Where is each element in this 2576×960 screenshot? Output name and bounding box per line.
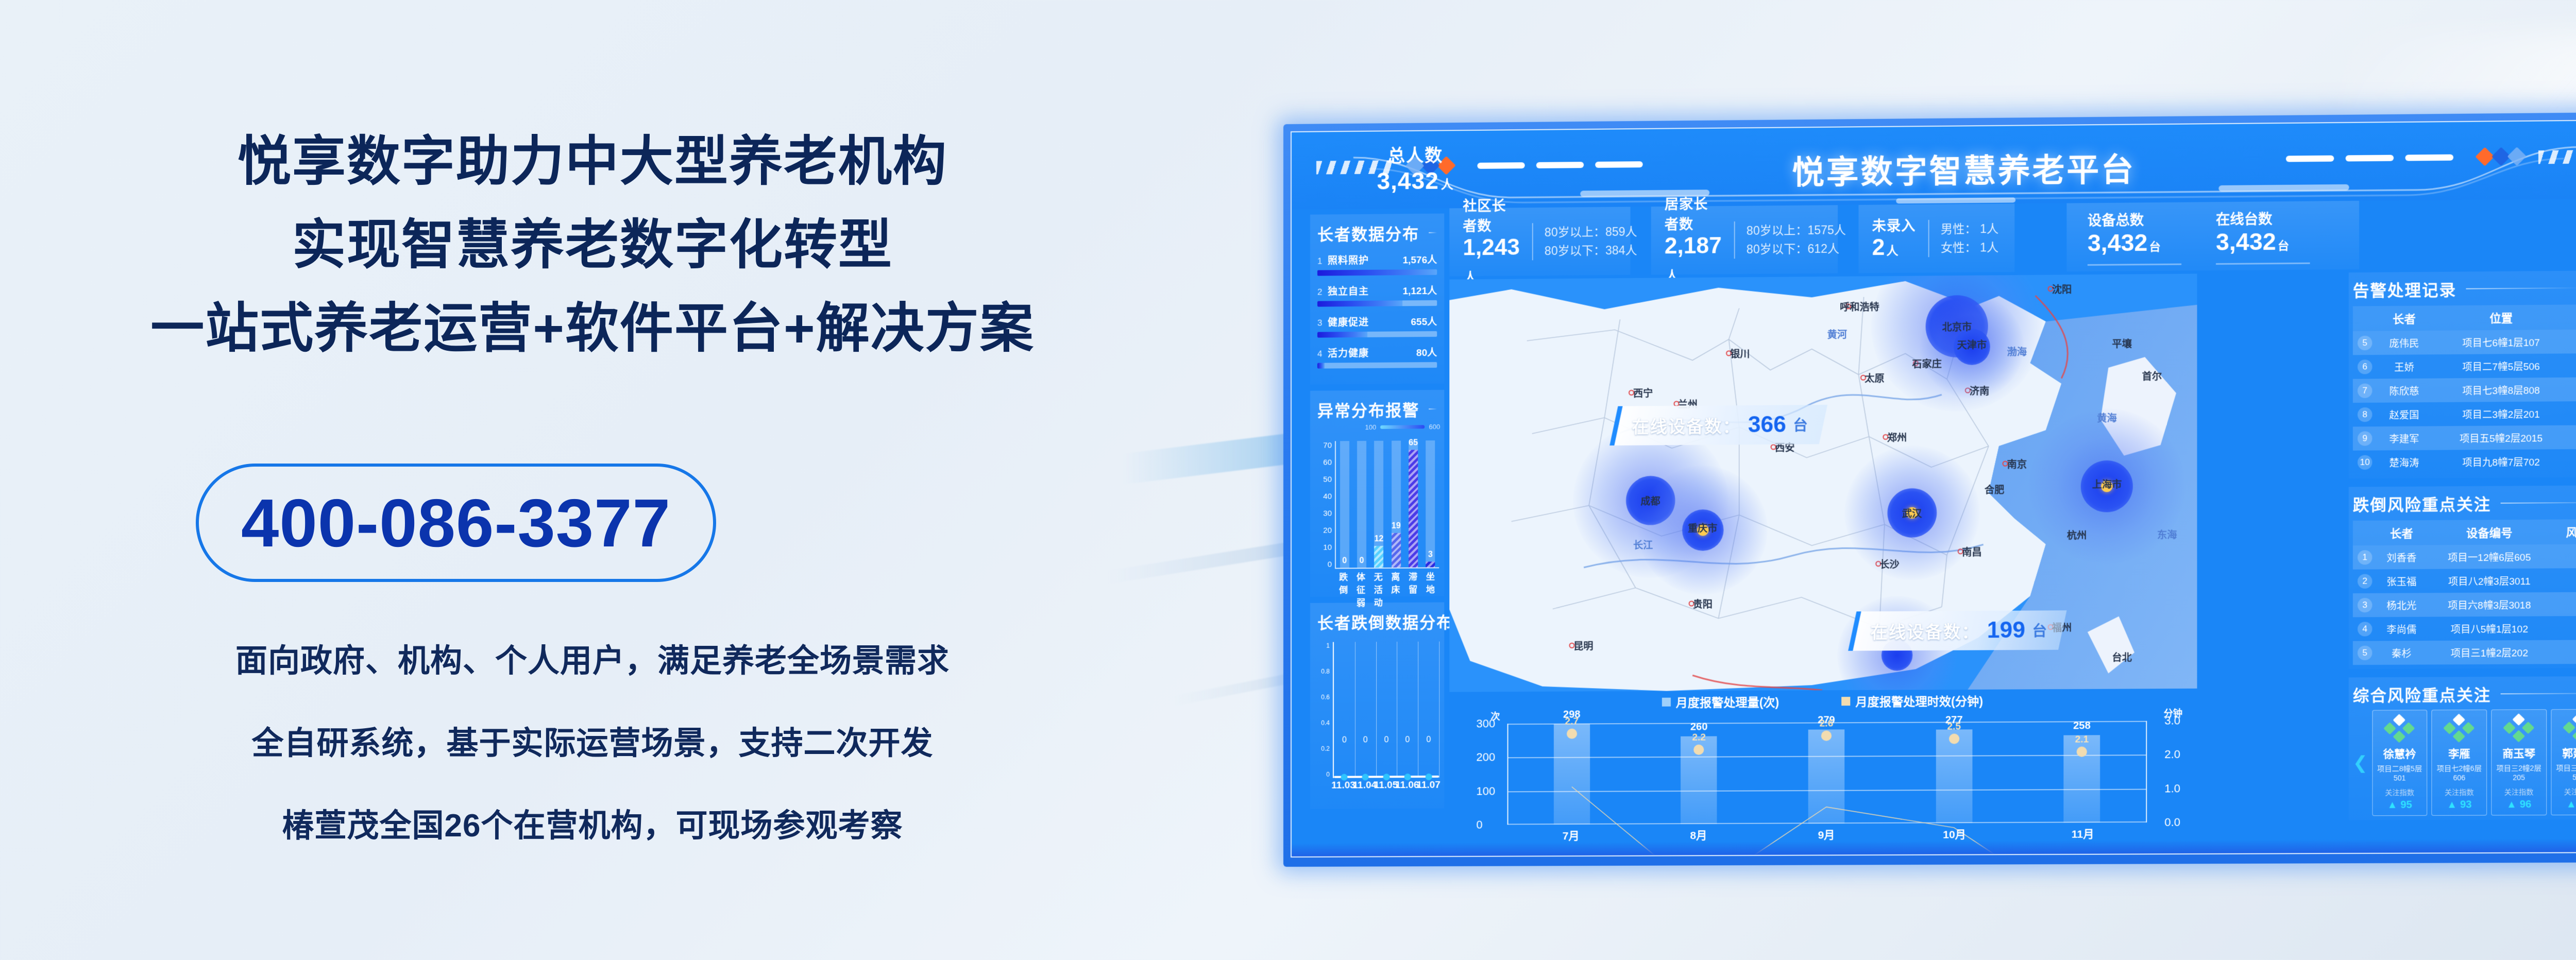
legend-item-duration: 月度报警处理时效(分钟) — [1841, 692, 1983, 710]
y-tick: 50 — [1314, 475, 1332, 484]
row-status: 已处理 — [2571, 377, 2576, 401]
grid-line — [1355, 642, 1355, 778]
row-elder-name: 王娇 — [2377, 354, 2432, 379]
line-value-label: 2.2 — [1692, 732, 1706, 744]
row-elder-name: 秦杉 — [2377, 641, 2427, 665]
left-column: 长者数据分布 1照料照护1,576人2独立自主1,121人3健康促进655人4活… — [1310, 214, 1444, 833]
map-city-label: 合肥 — [1985, 482, 2004, 496]
table-row[interactable]: 5庞伟民项目七6幢1层107已处理 — [2353, 329, 2576, 355]
map-city-label: 南京 — [2007, 457, 2027, 471]
y-tick: 0 — [1314, 560, 1332, 569]
bar-value-label: 0 — [1360, 556, 1364, 565]
stat-unreg-sub1: 男性： 1人 — [1941, 219, 1998, 238]
row-index: 2 — [2353, 569, 2377, 593]
row-elder-name: 张玉福 — [2377, 569, 2427, 593]
bar-value-label: 0 — [1342, 556, 1347, 565]
map-city-label: 北京市 — [1942, 319, 1972, 333]
alarm-table-body: 5庞伟民项目七6幢1层107已处理6王娇项目二7幢5层506已处理7陈欣慈项目七… — [2353, 329, 2576, 474]
bar-value-label: 3 — [1428, 551, 1433, 560]
elder-rank-row: 2独立自主1,121人 — [1317, 283, 1437, 307]
title-rule — [2501, 502, 2576, 503]
x-tick: 7月 — [1563, 828, 1580, 843]
focus-card-location: 项目二8幢5层501 — [2375, 763, 2425, 782]
grid-line — [1418, 642, 1418, 778]
legend-item-volume: 月度报警处理量(次) — [1662, 693, 1780, 711]
stat-unreg-sub: 男性： 1人 女性： 1人 — [1928, 219, 1999, 257]
stat-card-devices: 设备总数 3,432台 在线台数 3,432台 — [2066, 201, 2359, 271]
table-row[interactable]: 2张玉福项目八2幢3层301188 — [2353, 568, 2576, 593]
row-elder-name: 庞伟民 — [2377, 331, 2432, 355]
stat-home-sub1: 80岁以上：1575人 — [1747, 220, 1846, 240]
row-location: 项目五5幢2层2015 — [2431, 425, 2571, 450]
elder-total-value: 3,432 — [1377, 167, 1439, 195]
line-value-label: 2.1 — [2075, 734, 2089, 745]
stat-community-label: 社区长者数 — [1463, 194, 1519, 235]
focus-card-index-label: 关注指数 — [2434, 787, 2484, 798]
row-location: 项目九8幢7层702 — [2431, 449, 2571, 474]
focus-card-name: 郭建国 — [2553, 745, 2576, 761]
title-rule — [2501, 693, 2576, 694]
focus-card-score: ▲ 95 — [2375, 799, 2425, 812]
row-status: 已处理 — [2571, 425, 2576, 449]
alarm-table-header: 长者位置状态 — [2353, 304, 2576, 331]
anomaly-alarm-panel: 异常分布报警 100 600 706050403020100 001219653… — [1310, 390, 1444, 597]
fall-distribution-title: 长者跌倒数据分布 — [1317, 610, 1437, 633]
row-elder-name: 李尚儒 — [2377, 617, 2427, 641]
row-elder-name: 刘香香 — [2377, 545, 2427, 569]
focus-card-index-label: 关注指数 — [2375, 787, 2425, 798]
column-header: 长者 — [2377, 305, 2432, 331]
y-tick-right: 3.0 — [2164, 714, 2180, 727]
elder-total-label: 总人数 — [1353, 141, 1477, 167]
map-city-label: 成都 — [1640, 493, 1660, 507]
rank-value: 1,121人 — [1403, 283, 1437, 298]
y-tick-right: 2.0 — [2164, 748, 2180, 761]
bar-column: 65 — [1406, 440, 1420, 567]
monthly-x-axis: 7月8月9月10月11月 — [1507, 826, 2147, 846]
row-status: 已处理 — [2571, 353, 2576, 378]
map-city-label: 银川 — [1730, 346, 1750, 360]
x-tick: 滞留 — [1404, 570, 1422, 588]
stat-home-label: 居家长者数 — [1665, 193, 1722, 233]
map-water-label: 黄海 — [2097, 410, 2116, 424]
focus-card-location: 项目七2幢6层606 — [2434, 763, 2484, 782]
map-water-label: 长江 — [1633, 537, 1653, 551]
map-city-label: 石家庄 — [1912, 356, 1942, 370]
fall-risk-table: 长者设备编号风险指数 1刘香香项目一12幢6层605672张玉福项目八2幢3层3… — [2353, 519, 2576, 665]
title-rule — [1429, 232, 1437, 233]
x-tick: 11.05 — [1374, 780, 1398, 791]
map-city-label: 首尔 — [2142, 368, 2162, 382]
column-header: 位置 — [2431, 304, 2571, 330]
gradient-max: 600 — [1429, 423, 1440, 431]
y-tick: 40 — [1314, 492, 1332, 501]
focus-card-location: 项目三3幢5层502 — [2553, 763, 2576, 782]
row-risk-index: 76 — [2552, 616, 2576, 640]
headline-line-2: 实现智慧养老数字化转型 — [0, 216, 1185, 274]
map-city-label: 杭州 — [2067, 528, 2087, 542]
stat-community-sub: 80岁以上：859人 80岁以下：384人 — [1532, 222, 1637, 261]
y-tick-left: 0 — [1476, 818, 1482, 832]
map-city-label: 台北 — [2112, 649, 2131, 663]
row-index: 1 — [2353, 545, 2377, 570]
sub-line-3: 椿萱茂全国26个在营机构，可现场参观考察 — [0, 799, 1185, 846]
device-total: 设备总数 3,432台 — [2088, 208, 2181, 265]
y-tick-left: 100 — [1476, 784, 1495, 798]
row-elder-name: 赵爱国 — [2377, 402, 2432, 426]
focus-card-score: ▲ 96 — [2494, 799, 2544, 811]
overall-risk-panel: 综合风险重点关注 ❮ 徐慧衿项目二8幢5层501关注指数▲ 95李雁项目七2幢6… — [2349, 676, 2576, 820]
map-tag-1-label: 在线设备数： — [1632, 413, 1741, 438]
column-header: 风险指数 — [2552, 519, 2576, 544]
fall-risk-title: 跌倒风险重点关注 — [2353, 490, 2576, 516]
focus-card-name: 商玉琴 — [2494, 745, 2544, 761]
anomaly-x-axis: 跌倒体征弱无活动离床滞留坐地 — [1335, 569, 1439, 588]
row-index: 3 — [2353, 593, 2377, 618]
anomaly-y-axis: 706050403020100 — [1314, 441, 1332, 569]
map-water-label: 渤海 — [2007, 344, 2027, 358]
gradient-min: 100 — [1365, 423, 1377, 431]
device-total-rule — [2088, 263, 2181, 265]
y-tick: 20 — [1314, 526, 1332, 535]
device-online-value: 3,432 — [2216, 228, 2276, 255]
rank-index: 2 — [1317, 287, 1328, 297]
row-status: 已处理 — [2571, 401, 2576, 425]
line-data-point — [1694, 745, 1704, 755]
rank-name: 健康促进 — [1328, 315, 1369, 329]
monthly-plot-area: 298260279277258 2.72.22.62.52.1 — [1507, 721, 2147, 825]
stat-card-unregistered: 未录入 2人 男性： 1人 女性： 1人 — [1858, 203, 2014, 273]
row-index: 6 — [2353, 355, 2377, 379]
rank-name: 独立自主 — [1328, 284, 1369, 298]
row-index: 5 — [2353, 331, 2377, 355]
line-data-point — [1949, 733, 1959, 744]
stat-home-value: 2,187 — [1665, 233, 1722, 259]
table-row[interactable]: 1刘香香项目一12幢6层60567 — [2353, 544, 2576, 569]
rank-index: 1 — [1317, 256, 1328, 266]
table-row[interactable]: 5秦杉项目三1幢2层20278 — [2353, 640, 2576, 665]
map-city-label: 天津市 — [1957, 337, 1987, 352]
rank-name: 照料照护 — [1328, 253, 1369, 267]
x-tick: 坐地 — [1422, 569, 1439, 588]
diamond-cluster-icon — [2384, 715, 2415, 742]
y-tick-left: 200 — [1476, 751, 1495, 764]
fall-line-chart: 10.80.60.40.20 00000 11.0311.0411.0511.0… — [1314, 635, 1442, 805]
table-row[interactable]: 3杨北光项目六8幢3层301852 — [2353, 592, 2576, 617]
focus-card-list: 徐慧衿项目二8幢5层501关注指数▲ 95李雁项目七2幢6层606关注指数▲ 9… — [2372, 709, 2576, 816]
bar-column: 12 — [1372, 441, 1385, 568]
row-index: 10 — [2353, 451, 2377, 475]
stat-card-home: 居家长者数 2,187人 80岁以上：1575人 80岁以下：612人 — [1651, 205, 1838, 275]
row-risk-index: 78 — [2552, 640, 2576, 664]
monthly-chart-legend: 月度报警处理量(次) 月度报警处理时效(分钟) — [1449, 691, 2197, 712]
diamond-cluster-icon — [2504, 715, 2534, 741]
fall-distribution-panel: 长者跌倒数据分布 10.80.60.40.20 00000 11.0311.04… — [1310, 602, 1444, 809]
grid-line — [1439, 642, 1439, 778]
focus-card[interactable]: 徐慧衿项目二8幢5层501关注指数▲ 95 — [2372, 710, 2427, 816]
device-online-rule — [2216, 262, 2310, 264]
row-elder-name: 楚海涛 — [2377, 450, 2432, 474]
map-city-label: 昆明 — [1573, 639, 1593, 653]
bar-value-label: 12 — [1374, 535, 1383, 544]
y-tick-left: 300 — [1476, 717, 1495, 730]
table-row[interactable]: 10楚海涛项目九8幢7层702已处理 — [2353, 449, 2576, 474]
elder-rank-row: 1照料照护1,576人 — [1317, 252, 1437, 276]
device-total-unit: 台 — [2149, 240, 2160, 253]
row-elder-name: 陈欣慈 — [2377, 379, 2432, 403]
carousel-prev-icon[interactable]: ❮ — [2353, 752, 2368, 773]
table-row[interactable]: 4李尚儒项目八5幢1层10276 — [2353, 616, 2576, 641]
table-row[interactable]: 7陈欣慈项目七3幢8层808已处理 — [2353, 377, 2576, 403]
y-tick-right: 0.0 — [2164, 816, 2180, 829]
stat-ribbon: 社区长者数 1,243人 80岁以上：859人 80岁以下：384人 居家长者数… — [1449, 200, 2485, 277]
map-city-label: 太原 — [1865, 370, 1884, 384]
rank-name: 活力健康 — [1328, 346, 1369, 360]
x-tick: 无活动 — [1369, 570, 1387, 588]
rank-value: 1,576人 — [1403, 252, 1437, 267]
stat-community-sub1: 80岁以上：859人 — [1545, 222, 1637, 242]
x-tick: 体征弱 — [1352, 570, 1370, 588]
focus-card[interactable]: 李雁项目七2幢6层606关注指数▲ 93 — [2432, 710, 2487, 816]
gradient-swatch — [1380, 425, 1425, 429]
row-device-id: 项目六8幢3层3018 — [2426, 592, 2552, 617]
fall-risk-table-body: 1刘香香项目一12幢6层605672张玉福项目八2幢3层3011883杨北光项目… — [2353, 544, 2576, 665]
row-elder-name: 杨北光 — [2377, 593, 2427, 617]
table-row[interactable]: 6王娇项目二7幢5层506已处理 — [2353, 353, 2576, 379]
map-tag-online-devices-2: 在线设备数： 199 台 — [1848, 610, 2067, 651]
row-index: 9 — [2353, 426, 2377, 451]
anomaly-alarm-title: 异常分布报警 — [1317, 397, 1437, 421]
stat-unreg-unit: 人 — [1886, 244, 1898, 257]
dashboard-viewport: 悦享数字智慧养老平台 社区长者数 1,243人 80岁以上：859人 80岁以下… — [1291, 119, 2576, 858]
x-tick: 11.07 — [1416, 780, 1440, 791]
y-tick: 0.4 — [1314, 719, 1330, 727]
row-index: 7 — [2353, 379, 2377, 403]
alarm-records-title: 告警处理记录 — [2353, 276, 2576, 301]
anomaly-plot-area: 001219653 — [1335, 440, 1439, 569]
bar-column: 3 — [1424, 440, 1437, 567]
row-location: 项目二3幢2层201 — [2431, 401, 2571, 426]
device-total-value: 3,432 — [2088, 229, 2148, 256]
point-label: 0 — [1405, 735, 1410, 745]
sub-line-2: 全自研系统，基于实际运营场景，支持二次开发 — [0, 717, 1185, 763]
stat-home-sub: 80岁以上：1575人 80岁以下：612人 — [1734, 220, 1846, 259]
map-city-label: 上海市 — [2092, 477, 2122, 491]
map-water-label: 黄河 — [1827, 327, 1847, 341]
fall-risk-panel: 跌倒风险重点关注 长者设备编号风险指数 1刘香香项目一12幢6层605672张玉… — [2349, 485, 2576, 669]
fall-y-axis: 10.80.60.40.20 — [1314, 642, 1330, 778]
y-tick-right: 1.0 — [2164, 782, 2180, 795]
stat-home-main: 居家长者数 2,187人 — [1665, 193, 1722, 288]
anomaly-gradient-legend: 100 600 — [1365, 423, 1440, 431]
rank-value: 80人 — [1416, 345, 1437, 359]
stat-unreg-main: 未录入 2人 — [1872, 214, 1916, 264]
device-online-unit: 台 — [2278, 239, 2289, 252]
title-rule — [1429, 408, 1437, 409]
x-tick: 9月 — [1818, 827, 1835, 842]
x-tick: 10月 — [1943, 826, 1966, 842]
grid-line — [1397, 642, 1398, 778]
column-header — [2353, 521, 2377, 546]
focus-card-index-label: 关注指数 — [2494, 787, 2544, 798]
x-tick: 11月 — [2072, 826, 2094, 841]
fall-plot-area: 00000 — [1333, 642, 1439, 778]
x-tick: 11.04 — [1353, 780, 1377, 791]
y-tick: 1 — [1314, 642, 1330, 649]
x-tick: 11.03 — [1331, 780, 1355, 792]
row-elder-name: 李建军 — [2377, 426, 2432, 450]
focus-card[interactable]: 商玉琴项目三2幢2层205关注指数▲ 96 — [2491, 709, 2547, 815]
title-rule — [2466, 287, 2576, 289]
headline-line-1: 悦享数字助力中大型养老机构 — [0, 133, 1185, 191]
anomaly-bar-chart: 100 600 706050403020100 001219653 跌倒体征弱无… — [1314, 420, 1442, 593]
map-city-label: 重庆市 — [1688, 521, 1717, 535]
focus-card[interactable]: 郭建国项目三3幢5层502关注指数▲ 89 — [2551, 709, 2576, 815]
map-city-label: 平壤 — [2112, 336, 2131, 350]
map-tag-2-label: 在线设备数： — [1871, 618, 1980, 643]
overall-risk-cards: ❮ 徐慧衿项目二8幢5层501关注指数▲ 95李雁项目七2幢6层606关注指数▲… — [2353, 709, 2576, 816]
grid-line — [1376, 642, 1377, 778]
focus-card-score: ▲ 89 — [2553, 798, 2576, 811]
row-risk-index: 67 — [2552, 544, 2576, 568]
rank-index: 4 — [1317, 349, 1328, 359]
column-header: 长者 — [2377, 520, 2427, 545]
row-location: 项目七3幢8层808 — [2431, 378, 2571, 402]
map-city-label: 郑州 — [1887, 430, 1907, 444]
map-city-label: 贵阳 — [1693, 596, 1713, 610]
headline-line-3: 一站式养老运营+软件平台+解决方案 — [0, 300, 1185, 357]
bar-column: 0 — [1338, 441, 1351, 568]
bar-value-label: 19 — [1392, 522, 1401, 531]
row-status: 已处理 — [2571, 449, 2576, 473]
phone-number: 400-086-3377 — [241, 484, 671, 562]
device-online-label: 在线台数 — [2216, 207, 2310, 228]
right-column: 告警处理记录 长者位置状态 5庞伟民项目七6幢1层107已处理6王娇项目二7幢5… — [2349, 270, 2576, 829]
point-label: 0 — [1426, 735, 1431, 745]
y-tick: 30 — [1314, 509, 1332, 518]
row-status: 已处理 — [2571, 329, 2576, 353]
map-tag-1-value: 366 — [1748, 412, 1786, 438]
elder-rank-row: 4活力健康80人 — [1317, 345, 1437, 369]
map-tag-1-unit: 台 — [1793, 414, 1808, 435]
row-device-id: 项目三1幢2层202 — [2426, 640, 2552, 665]
legend-label-duration: 月度报警处理时效(分钟) — [1855, 692, 1983, 710]
row-location: 项目二7幢5层506 — [2431, 353, 2571, 378]
elder-rank-list: 1照料照护1,576人2独立自主1,121人3健康促进655人4活力健康80人 — [1317, 252, 1437, 369]
elder-total-box: 总人数 3,432人 — [1353, 141, 1477, 195]
legend-label-volume: 月度报警处理量(次) — [1676, 693, 1780, 711]
alarm-records-table: 长者位置状态 5庞伟民项目七6幢1层107已处理6王娇项目二7幢5层506已处理… — [2353, 304, 2576, 475]
bar-value-label: 65 — [1409, 438, 1418, 448]
rank-value: 655人 — [1411, 314, 1437, 328]
map-water-label: 东海 — [2157, 527, 2177, 541]
sub-line-1: 面向政府、机构、个人用户，满足养老全场景需求 — [0, 635, 1185, 681]
focus-card-location: 项目三2幢2层205 — [2494, 763, 2544, 782]
column-header: 设备编号 — [2426, 520, 2552, 545]
overall-risk-title: 综合风险重点关注 — [2353, 681, 2576, 706]
stat-community-main: 社区长者数 1,243人 — [1463, 194, 1519, 289]
monthly-alarm-chart-panel: 月度报警处理量(次) 月度报警处理时效(分钟) 次 分钟 3002001000 … — [1449, 691, 2197, 849]
diamond-cluster-icon — [2563, 715, 2576, 741]
y-tick: 60 — [1314, 458, 1332, 467]
phone-cta-button[interactable]: 400-086-3377 — [196, 464, 716, 582]
row-device-id: 项目一12幢6层605 — [2426, 544, 2552, 569]
stat-home-sub2: 80岁以下：612人 — [1747, 239, 1846, 259]
alarm-records-panel: 告警处理记录 长者位置状态 5庞伟民项目七6幢1层107已处理6王娇项目二7幢5… — [2349, 270, 2576, 478]
line-value-label: 2.7 — [1565, 716, 1579, 727]
stat-community-sub2: 80岁以下：384人 — [1545, 241, 1637, 261]
map-tag-2-unit: 台 — [2032, 620, 2047, 640]
stat-unreg-sub2: 女性： 1人 — [1941, 238, 1998, 257]
map-city-label: 西宁 — [1633, 386, 1653, 400]
line-data-point — [2077, 746, 2087, 757]
map-city-label: 南昌 — [1962, 544, 1981, 558]
fall-x-axis: 11.0311.0411.0511.0611.07 — [1333, 780, 1439, 799]
focus-card-name: 徐慧衿 — [2375, 746, 2425, 762]
y-tick: 0.6 — [1314, 694, 1330, 701]
bar-column: 0 — [1355, 441, 1368, 568]
point-label: 0 — [1384, 735, 1389, 745]
diamond-cluster-icon — [2444, 715, 2475, 742]
bar-column: 19 — [1389, 441, 1403, 568]
y-tick: 0.2 — [1314, 745, 1330, 752]
map-city-label: 长沙 — [1879, 556, 1899, 570]
dashboard-screen: 悦享数字智慧养老平台 社区长者数 1,243人 80岁以上：859人 80岁以下… — [1291, 119, 2576, 858]
row-index: 8 — [2353, 403, 2377, 427]
column-header: 状态 — [2571, 304, 2576, 330]
table-row[interactable]: 8赵爱国项目二3幢2层201已处理 — [2353, 401, 2576, 427]
stat-unreg-label: 未录入 — [1872, 214, 1916, 235]
y-tick: 70 — [1314, 441, 1332, 450]
focus-card-index-label: 关注指数 — [2553, 786, 2576, 797]
elder-total-unit: 人 — [1441, 178, 1454, 192]
stat-community-value: 1,243 — [1463, 234, 1519, 260]
row-index: 5 — [2353, 641, 2377, 665]
point-label: 0 — [1363, 735, 1368, 745]
map-tag-online-devices-1: 在线设备数： 366 台 — [1609, 405, 1827, 445]
map-city-label: 济南 — [1970, 383, 1989, 397]
elder-rank-row: 3健康促进655人 — [1317, 314, 1437, 338]
marketing-panel: 悦享数字助力中大型养老机构 实现智慧养老数字化转型 一站式养老运营+软件平台+解… — [0, 0, 1185, 960]
row-location: 项目七6幢1层107 — [2431, 330, 2571, 354]
map-city-label: 呼和浩特 — [1840, 299, 1879, 314]
fall-risk-table-header: 长者设备编号风险指数 — [2353, 519, 2576, 545]
x-tick: 跌倒 — [1335, 570, 1352, 588]
focus-card-name: 李雁 — [2434, 745, 2484, 761]
china-map-panel[interactable]: 沈阳呼和浩特北京市天津市平壤银川石家庄首尔太原济南西宁兰州郑州西安成都合肥南京上… — [1449, 273, 2197, 692]
x-tick: 离床 — [1387, 570, 1404, 588]
map-tag-2-value: 199 — [1987, 618, 2025, 644]
y-tick: 0 — [1314, 771, 1330, 778]
rank-bar — [1317, 269, 1437, 276]
map-city-label: 武汉 — [1902, 506, 1922, 520]
device-total-label: 设备总数 — [2088, 208, 2181, 229]
device-online: 在线台数 3,432台 — [2216, 207, 2310, 264]
line-data-point — [1821, 731, 1832, 741]
x-tick: 8月 — [1690, 827, 1707, 843]
rank-index: 3 — [1317, 318, 1328, 328]
y-tick: 10 — [1314, 543, 1332, 552]
legend-swatch-duration-icon — [1841, 697, 1850, 706]
row-device-id: 项目八5幢1层102 — [2426, 616, 2552, 641]
row-index: 4 — [2353, 617, 2377, 641]
column-header — [2353, 306, 2377, 331]
table-row[interactable]: 9李建军项目五5幢2层2015已处理 — [2353, 425, 2576, 451]
elder-distribution-title: 长者数据分布 — [1317, 221, 1437, 245]
rank-bar — [1317, 362, 1437, 369]
row-risk-index: 88 — [2552, 568, 2576, 592]
row-risk-index: 52 — [2552, 592, 2576, 616]
